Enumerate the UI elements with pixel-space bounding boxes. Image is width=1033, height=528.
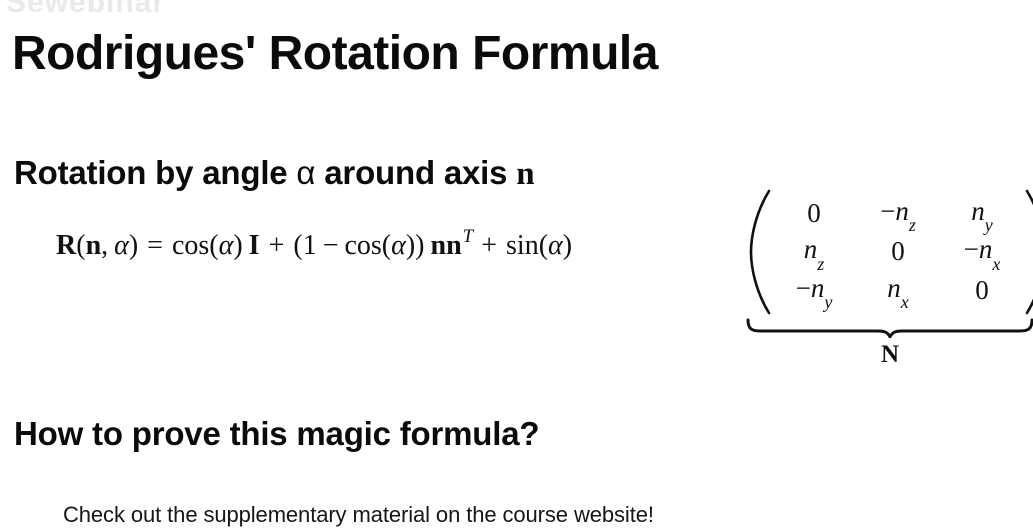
matrix-with-parentheses: 0 −nz ny nz 0 −nx −ny nx 0	[746, 188, 1033, 316]
formula-term2-lparen: (	[293, 230, 302, 262]
matrix-left-paren-icon	[746, 188, 772, 316]
footnote-text: Check out the supplementary material on …	[63, 502, 654, 528]
formula-R: R	[56, 230, 76, 262]
equation-line: R(n,α) = cos(α)I + (1−cos(α))nnT + sin(α…	[56, 230, 572, 262]
matrix-cells: 0 −nz ny nz 0 −nx −ny nx 0	[772, 188, 1024, 316]
formula-comma: ,	[101, 230, 108, 262]
formula-sin-open: sin(	[506, 230, 548, 262]
formula-cos2-open: cos(	[344, 230, 391, 262]
formula-transpose-superscript: T	[463, 226, 474, 248]
formula-cos-close: )	[233, 230, 242, 262]
formula-plus-1: +	[269, 230, 285, 262]
matrix-cell-r2c2: 0	[891, 238, 905, 265]
formula-sin-alpha: α	[548, 230, 563, 262]
matrix-cell-r3c1: −ny	[796, 275, 833, 306]
matrix-cell-r3c2: nx	[887, 275, 909, 306]
formula-term2-rparen: )	[415, 230, 424, 262]
subtitle-text-between: around axis	[315, 154, 516, 191]
underbrace-icon	[746, 318, 1033, 338]
formula-lparen: (	[76, 230, 85, 262]
formula-nn-outer-product: nn	[431, 230, 462, 262]
subtitle-axis-symbol: n	[516, 156, 534, 192]
matrix-cell-r3c3: 0	[975, 277, 989, 304]
formula-alpha-arg: α	[114, 230, 129, 262]
formula-equals: =	[147, 230, 163, 262]
matrix-cell-r1c3: ny	[971, 198, 993, 229]
page-title: Rodrigues' Rotation Formula	[12, 30, 658, 78]
matrix-cell-r2c3: −nx	[964, 236, 1001, 267]
matrix-right-paren-icon	[1024, 188, 1033, 316]
underbrace-label-N: N	[746, 342, 1033, 367]
formula-identity-matrix: I	[249, 230, 260, 262]
matrix-cell-r1c2: −nz	[880, 198, 916, 229]
watermark: Sewebinar	[6, 0, 165, 20]
formula-cos-alpha: α	[219, 230, 234, 262]
formula-minus: −	[323, 230, 339, 262]
formula-plus-2: +	[481, 230, 497, 262]
matrix-cell-r1c1: 0	[807, 200, 821, 227]
matrix-cell-r2c1: nz	[804, 236, 825, 267]
formula-cos2-close: )	[406, 230, 415, 262]
rotation-formula: R(n,α) = cos(α)I + (1−cos(α))nnT + sin(α…	[56, 188, 1021, 360]
subtitle-alpha-symbol: α	[296, 154, 315, 191]
question-heading: How to prove this magic formula?	[14, 415, 539, 453]
subtitle-text-before: Rotation by angle	[14, 154, 296, 191]
formula-one: 1	[303, 230, 317, 262]
formula-rparen: )	[129, 230, 138, 262]
formula-cos-open: cos(	[172, 230, 219, 262]
formula-n-arg: n	[86, 230, 102, 262]
skew-symmetric-matrix-group: 0 −nz ny nz 0 −nx −ny nx 0	[746, 188, 1033, 367]
formula-cos2-alpha: α	[391, 230, 406, 262]
formula-sin-close: )	[563, 230, 572, 262]
